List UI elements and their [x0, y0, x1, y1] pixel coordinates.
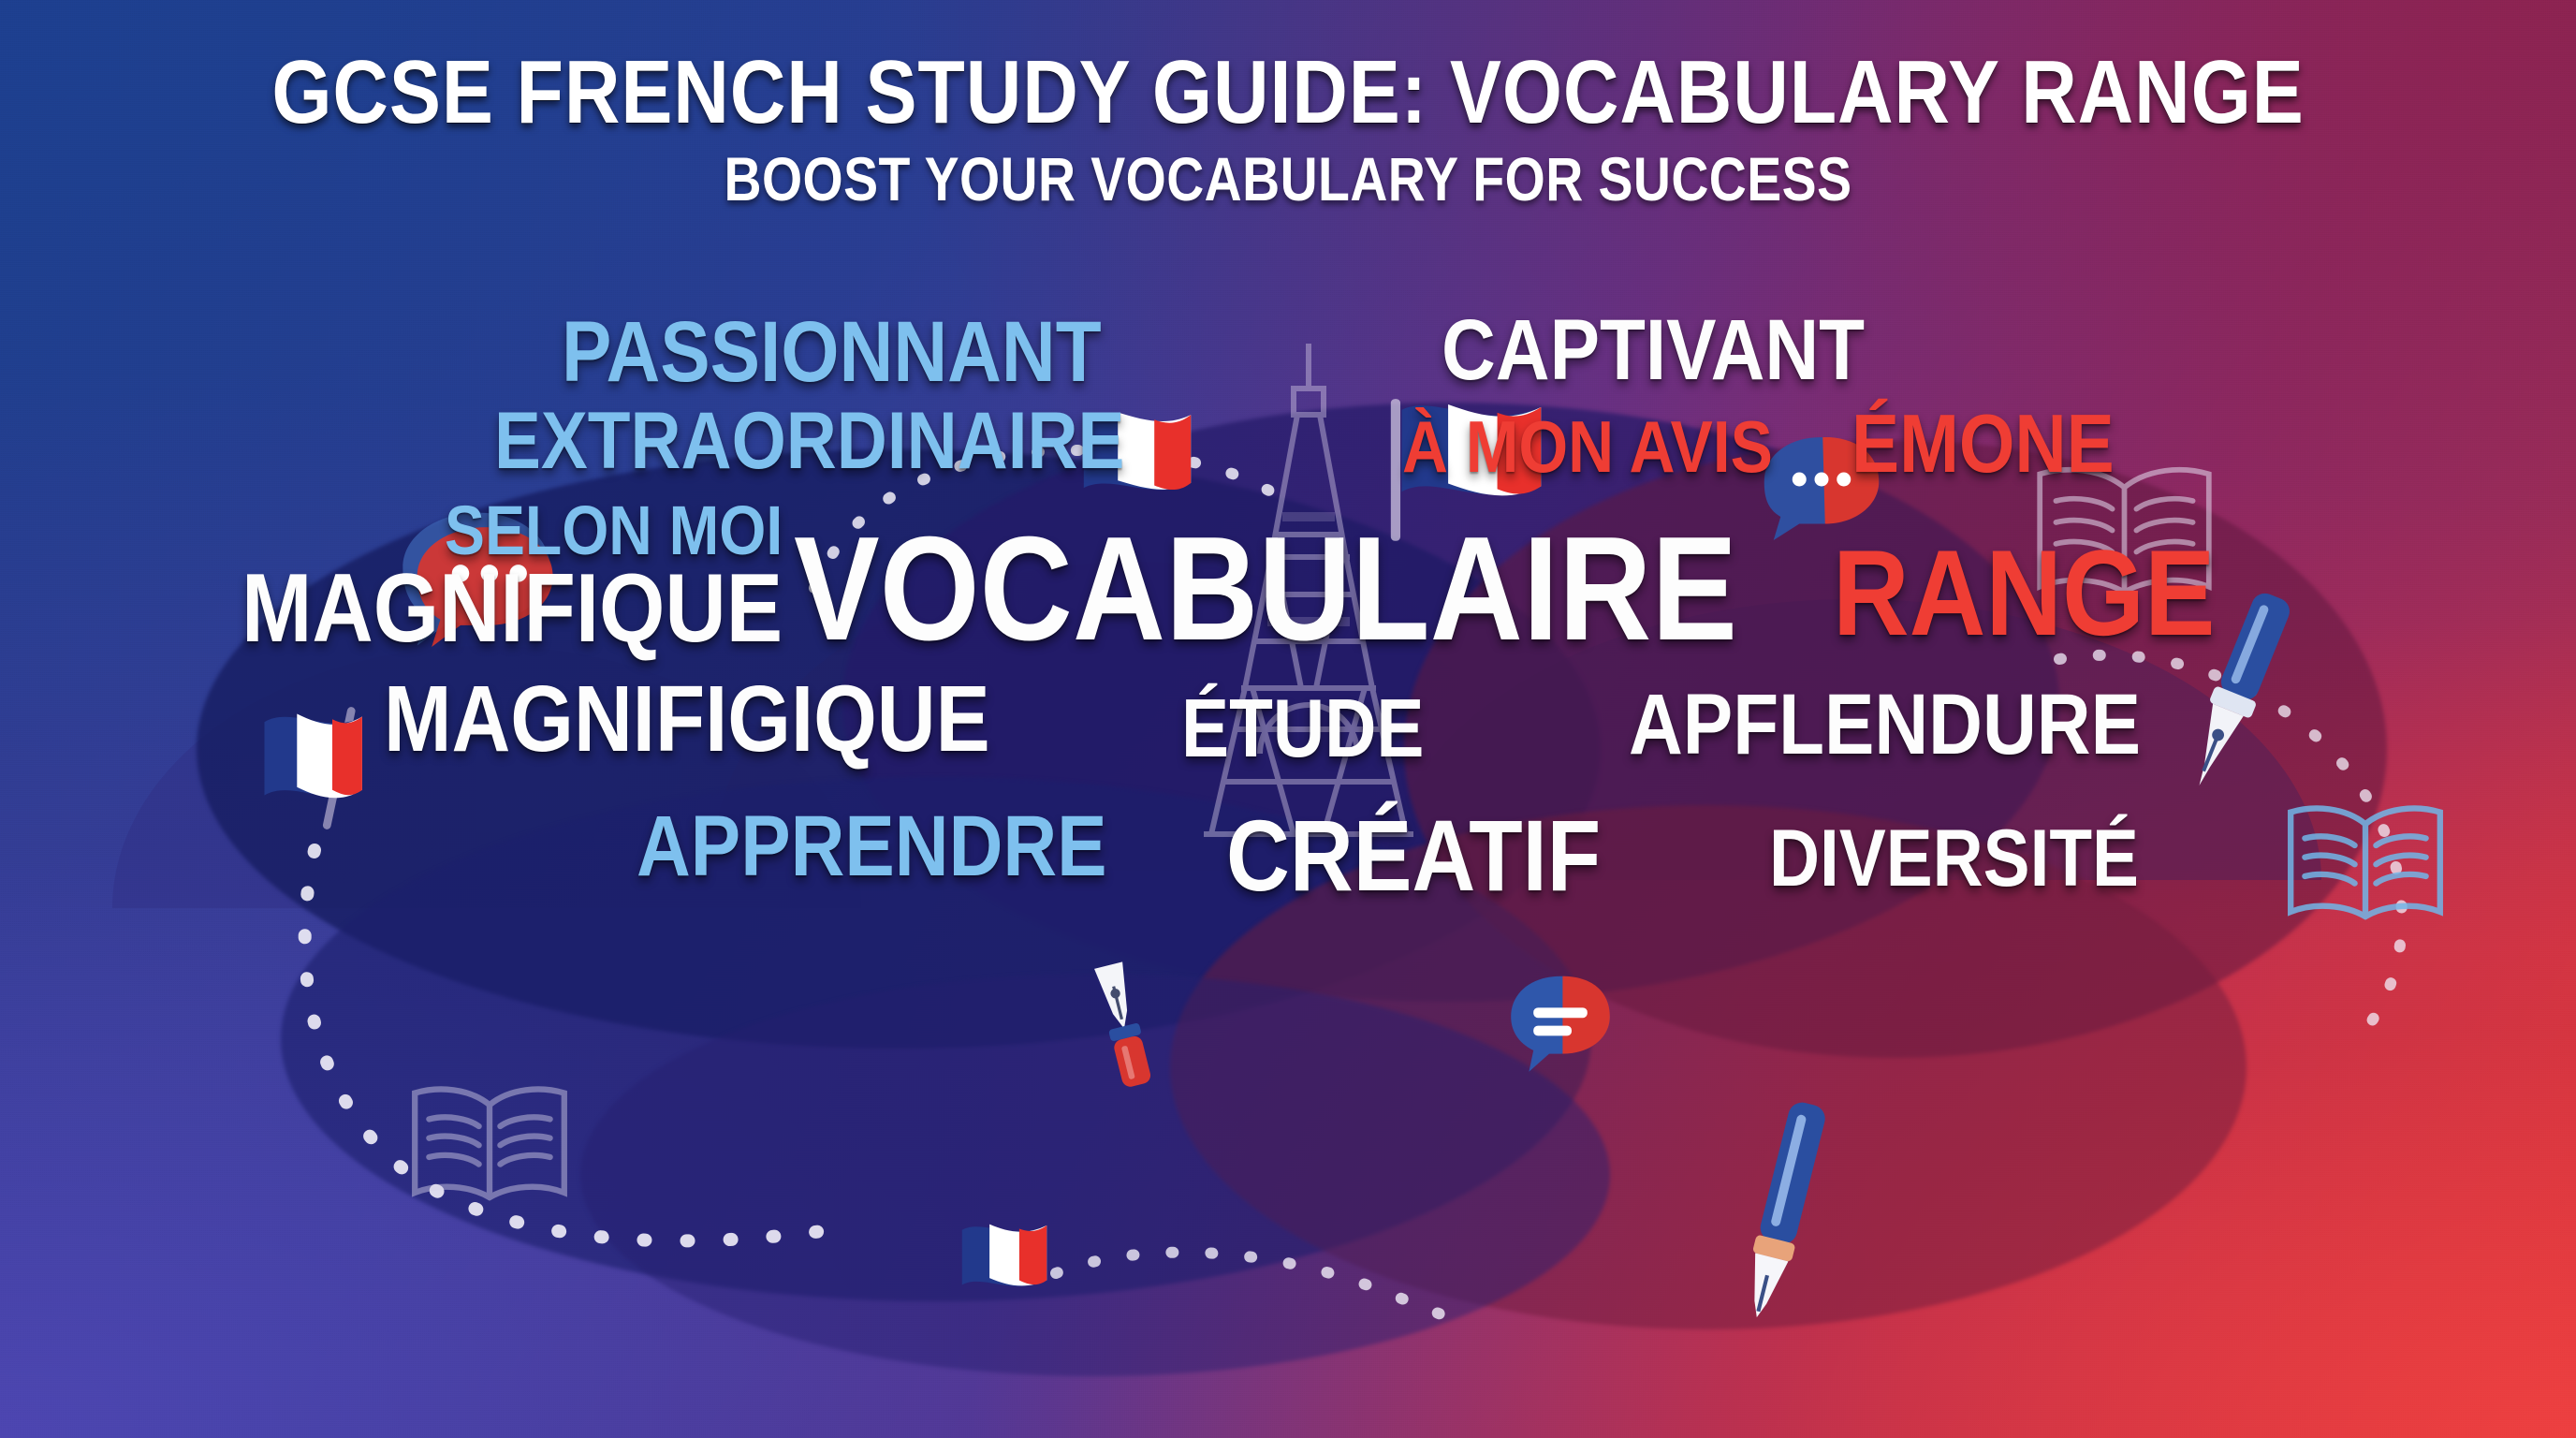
- word-cloud-term: APFLENDURE: [1629, 682, 2141, 768]
- word-cloud-term: MAGNIFIGIQUE: [384, 672, 990, 766]
- word-cloud-term: APPRENDRE: [637, 803, 1107, 889]
- word-cloud-term: MAGNIFIQUE: [241, 560, 783, 657]
- word-cloud-term: À MON AVIS: [1402, 410, 1773, 483]
- word-cloud: PASSIONNANTCAPTIVANTEXTRAORDINAIREÀ MON …: [0, 281, 2576, 1273]
- word-cloud-term: EXTRAORDINAIRE: [494, 401, 1124, 481]
- word-cloud-term: PASSIONNANT: [562, 309, 1102, 395]
- word-cloud-term: DIVERSITÉ: [1769, 818, 2139, 899]
- word-cloud-term: CAPTIVANT: [1442, 307, 1865, 393]
- poster-header: GCSE FRENCH STUDY GUIDE: VOCABULARY RANG…: [0, 0, 2576, 210]
- word-cloud-term: VOCABULAIRE: [794, 515, 1737, 663]
- word-cloud-term: RANGE: [1833, 532, 2215, 653]
- word-cloud-term: ÉMONE: [1851, 403, 2115, 485]
- poster-canvas: GCSE FRENCH STUDY GUIDE: VOCABULARY RANG…: [0, 0, 2576, 1438]
- word-cloud-term: ÉTUDE: [1181, 687, 1424, 770]
- page-subtitle: BOOST YOUR VOCABULARY FOR SUCCESS: [206, 148, 2370, 210]
- page-title: GCSE FRENCH STUDY GUIDE: VOCABULARY RANG…: [181, 49, 2396, 137]
- word-cloud-term: CRÉATIF: [1226, 805, 1601, 906]
